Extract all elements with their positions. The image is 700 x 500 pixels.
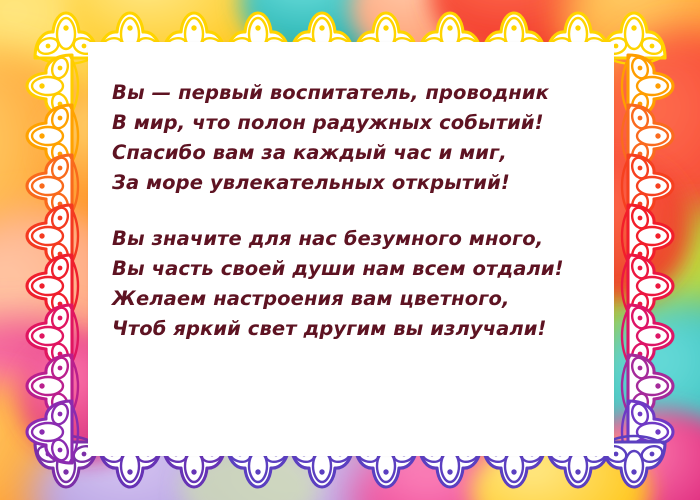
poem-line: В мир, что полон радужных событий!	[112, 108, 602, 138]
poem-line: Спасибо вам за каждый час и миг,	[112, 138, 602, 168]
poem-line: За море увлекательных открытий!	[112, 168, 602, 198]
poem-line: Вы — первый воспитатель, проводник	[112, 78, 602, 108]
poem-stanza: Вы значите для нас безумного много, Вы ч…	[112, 224, 602, 344]
poem-body: Вы — первый воспитатель, проводник В мир…	[112, 78, 602, 344]
poem-line: Чтоб яркий свет другим вы излучали!	[112, 314, 602, 344]
poem-line: Вы часть своей души нам всем отдали!	[112, 254, 602, 284]
greeting-card: Вы — первый воспитатель, проводник В мир…	[0, 0, 700, 500]
poem-line: Вы значите для нас безумного много,	[112, 224, 602, 254]
poem-stanza: Вы — первый воспитатель, проводник В мир…	[112, 78, 602, 198]
poem-line: Желаем настроения вам цветного,	[112, 284, 602, 314]
